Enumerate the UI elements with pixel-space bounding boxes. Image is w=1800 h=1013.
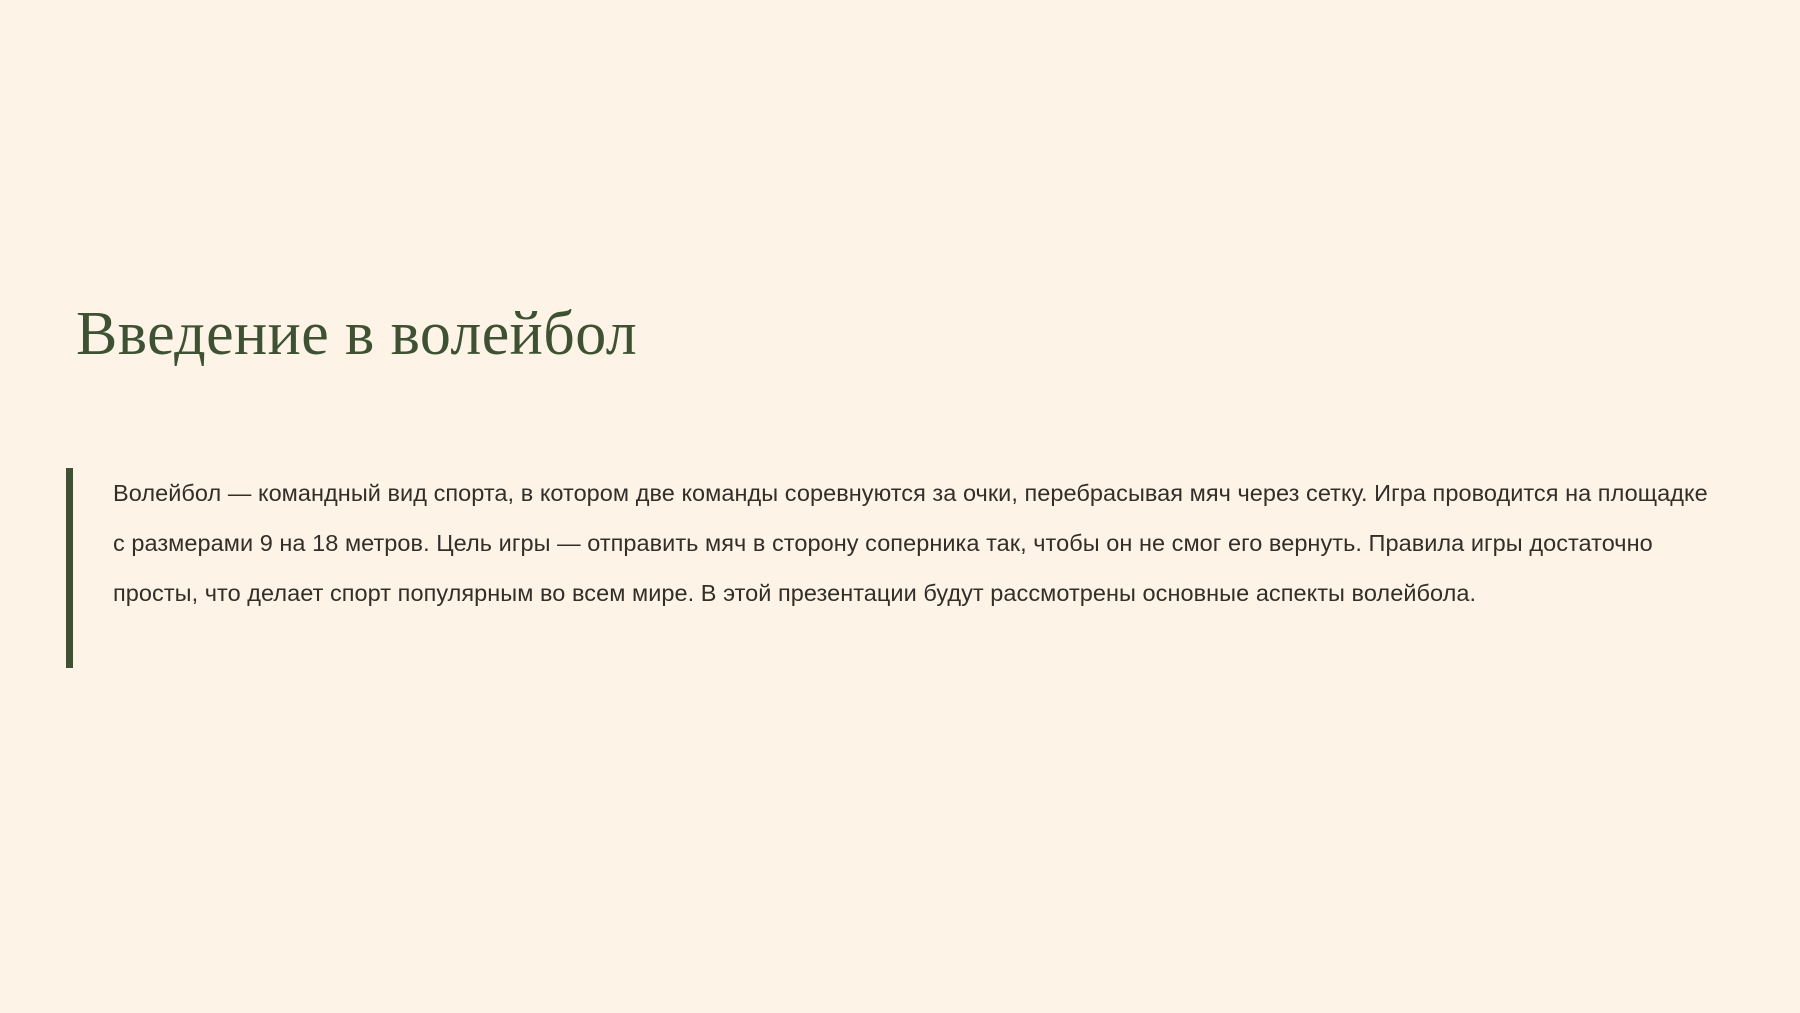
body-paragraph: Волейбол — командный вид спорта, в котор… [73,468,1726,668]
slide-canvas: Введение в волейбол Волейбол — командный… [0,0,1800,1013]
page-title: Введение в волейбол [76,300,637,368]
body-callout: Волейбол — командный вид спорта, в котор… [66,468,1726,668]
accent-bar [66,468,73,668]
